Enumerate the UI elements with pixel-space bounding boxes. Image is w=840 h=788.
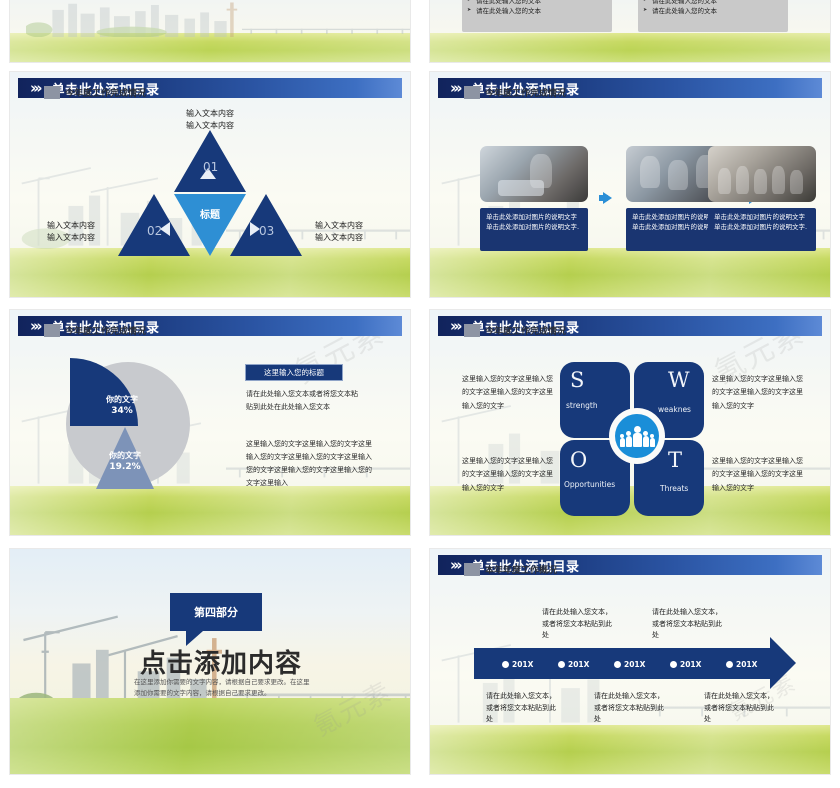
swot-center-circle[interactable] [615,414,659,458]
timeline-node-5[interactable]: 201X [726,660,757,669]
pie-paragraph-2: 这里输入您的文字这里输入您的文字这里输入您的文字这里输入您的文字这里输入您的文字… [246,438,376,490]
flow-arrow-icon-1 [603,192,612,204]
bridge-railing-icon [242,27,410,36]
photo-caption: 单击此处添加对图片的说明文字单击此处添加对图片的说明文字. [708,208,816,251]
slide-partial-left[interactable] [10,0,410,62]
list-item: 请在此处输入您的文本 [476,7,612,17]
swot-word-weakness: weaknes [658,405,720,414]
triangle-text-01: 输入文本内容 输入文本内容 [150,108,270,131]
swot-text-threats: 这里输入您的文字这里输入您的文字这里输入您的文字这里输入您的文字 [712,455,804,495]
timeline-node-3-label: 201X [624,660,645,669]
chevron-right-icon: ››› [450,558,460,573]
chevron-right-icon: ››› [30,319,40,334]
slide-partial-right[interactable]: 添加小标题: 请在此处输入您的文本 请在此处输入您的文本 添加小标题: 请在此处… [430,0,830,62]
grass-backdrop [10,33,410,62]
grass-backdrop [430,248,830,298]
photo-card-3[interactable]: 单击此处添加对图片的说明文字单击此处添加对图片的说明文字. [708,146,816,251]
timeline-node-1-label: 201X [512,660,533,669]
triangle-text-01-line1: 输入文本内容 [150,108,270,120]
triangle-center[interactable] [174,194,246,256]
header-square-marker [44,324,60,337]
swot-text-opportunities: 这里输入您的文字这里输入您的文字这里输入您的文字这里输入您的文字 [462,455,554,495]
photo-caption: 单击此处添加对图片的说明文字单击此处添加对图片的说明文字. [480,208,588,251]
photo-thumbnail [708,146,816,202]
slide-triangle[interactable]: ››› 单击此处添加目录 今年度工作完成情况 01 02 03 标题 输入文本内… [10,72,410,297]
chevron-right-icon: ››› [450,319,460,334]
chevron-right-icon: ››› [450,81,460,96]
timeline-node-1[interactable]: 201X [502,660,533,669]
slide-timeline[interactable]: 氪元素 ››› 单击此处添加目录 本年年度工作概况 201X 201X 201X… [430,549,830,774]
people-group-icon [620,426,655,447]
timeline-node-2-label: 201X [568,660,589,669]
list-item: 请在此处输入您的文本 [652,7,788,17]
grass-backdrop [430,33,830,62]
timeline-arrowhead-icon [770,637,796,689]
pie-label-1: 你的文字 34% [92,394,152,416]
triangle-number-01: 01 [203,160,218,174]
info-box[interactable]: 添加小标题: 请在此处输入您的文本 请在此处输入您的文本 [638,0,788,32]
slide-pie-chart[interactable]: 氪元素 ››› 单击此处添加目录 今年度工作完成情况 你的文字 34% 你的文字… [10,310,410,535]
timeline-node-2[interactable]: 201X [558,660,589,669]
header-square-marker [464,563,480,576]
section-body-text: 在这里添加你需要的文字内容，请根据自己要求更改。在这里添加你需要的文字内容，请根… [134,677,314,699]
triangle-text-03-line2: 输入文本内容 [296,232,382,244]
triangle-text-03-line1: 输入文本内容 [296,220,382,232]
timeline-node-4-label: 201X [680,660,701,669]
pie-label-2-text: 你的文字 [96,450,154,461]
pie-paragraph-1: 请在此处输入您文本或者将您文本粘贴到此处在此处输入您文本 [246,388,358,414]
swot-letter-t: T [668,448,682,472]
timeline-bullet-icon [726,661,733,668]
triangle-number-02: 02 [147,224,162,238]
slide-subtitle: 今年度工作完成情况 [485,86,566,99]
timeline-node-3[interactable]: 201X [614,660,645,669]
slide-subtitle: 今年度工作完成情况 [485,324,566,337]
slide-section-divider[interactable]: 氪元素 第四部分 点击添加内容 在这里添加你需要的文字内容，请根据自己要求更改。… [10,549,410,774]
swot-text-weakness: 这里输入您的文字这里输入您的文字这里输入您的文字这里输入您的文字 [712,373,804,413]
timeline-bullet-icon [614,661,621,668]
pie-label-2-value: 19.2% [96,462,154,472]
photo-card-1[interactable]: 单击此处添加对图片的说明文字单击此处添加对图片的说明文字. [480,146,588,251]
swot-letter-o: O [570,448,587,472]
timeline-top-text-2: 请在此处输入您文本，或者将您文本粘贴到此处 [652,607,724,642]
timeline-bullet-icon [670,661,677,668]
header-square-marker [464,324,480,337]
pie-label-1-text: 你的文字 [92,394,152,405]
grass-backdrop [10,486,410,536]
pie-side-title: 这里输入您的标题 [245,364,343,381]
triangle-diagram: 01 02 03 标题 输入文本内容 输入文本内容 输入文本内容 输入文本内容 … [10,94,410,297]
swot-word-strength: strength [566,401,628,410]
grass-backdrop [430,725,830,775]
swot-text-strength: 这里输入您的文字这里输入您的文字这里输入您的文字这里输入您的文字 [462,373,554,413]
section-callout[interactable]: 第四部分 [170,593,262,631]
swot-letter-s: S [570,368,584,392]
swot-word-opportunities: Opportunities [564,480,626,489]
timeline-node-5-label: 201X [736,660,757,669]
timeline-bottom-text-3: 请在此处输入您文本，或者将您文本粘贴到此处 [704,691,776,726]
timeline-bottom-text-2: 请在此处输入您文本，或者将您文本粘贴到此处 [594,691,666,726]
triangle-center-label: 标题 [174,206,246,221]
timeline-bottom-text-1: 请在此处输入您文本，或者将您文本粘贴到此处 [486,691,558,726]
pie-label-1-value: 34% [92,406,152,416]
triangle-text-03: 输入文本内容 输入文本内容 [296,220,382,243]
pie-label-2: 你的文字 19.2% [96,450,154,472]
header-square-marker [464,86,480,99]
photo-thumbnail [480,146,588,202]
info-box-list: 请在此处输入您的文本 请在此处输入您的文本 [462,0,612,17]
slide-thumbnail-sheet: 添加小标题: 请在此处输入您的文本 请在此处输入您的文本 添加小标题: 请在此处… [0,0,840,788]
slide-subtitle: 今年度工作完成情况 [65,324,146,337]
triangle-text-02: 输入文本内容 输入文本内容 [28,220,114,243]
triangle-text-01-line2: 输入文本内容 [150,120,270,132]
triangle-number-03: 03 [259,224,274,238]
slide-swot[interactable]: 氪元素 ››› 单击此处添加目录 今年度工作完成情况 S W O T stren… [430,310,830,535]
triangle-text-02-line2: 输入文本内容 [28,232,114,244]
section-callout-label: 第四部分 [194,604,238,620]
timeline-top-text-1: 请在此处输入您文本，或者将您文本粘贴到此处 [542,607,614,642]
timeline-bullet-icon [558,661,565,668]
section-heading: 点击添加内容 [140,643,302,680]
slide-photo-flow[interactable]: ››› 单击此处添加目录 今年度工作完成情况 单击此处添加对图片的说明文字单击此… [430,72,830,297]
list-item: 请在此处输入您的文本 [652,0,788,7]
info-box[interactable]: 添加小标题: 请在此处输入您的文本 请在此处输入您的文本 [462,0,612,32]
swot-letter-w: W [668,368,690,392]
timeline-node-4[interactable]: 201X [670,660,701,669]
info-box-list: 请在此处输入您的文本 请在此处输入您的文本 [638,0,788,17]
timeline-bullet-icon [502,661,509,668]
triangle-text-02-line1: 输入文本内容 [28,220,114,232]
slide-subtitle: 本年年度工作概况 [485,563,557,576]
list-item: 请在此处输入您的文本 [476,0,612,7]
